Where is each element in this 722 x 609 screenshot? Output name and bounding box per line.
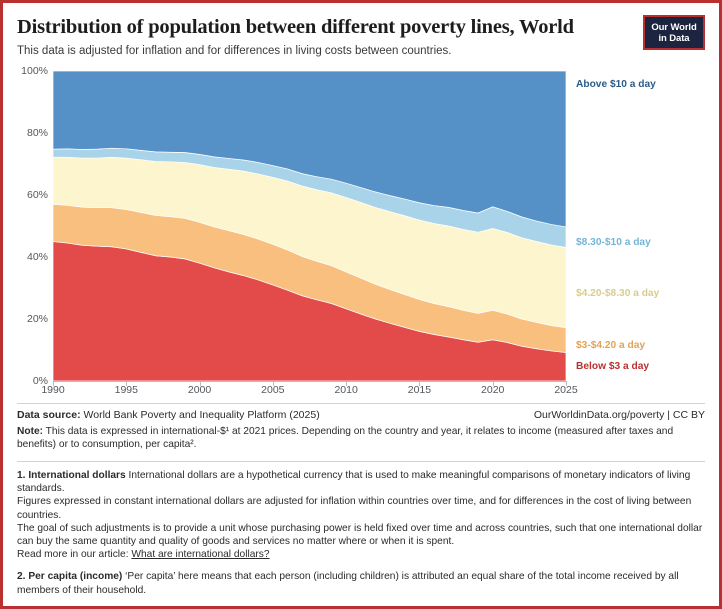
note-row: Note: This data is expressed in internat…	[17, 425, 705, 451]
our-world-in-data-logo[interactable]: Our World in Data	[643, 15, 705, 50]
y-tick-label: 100%	[21, 65, 48, 77]
x-axis-line	[53, 381, 566, 382]
data-source-value: World Bank Poverty and Inequality Platfo…	[81, 409, 320, 421]
x-tick-mark	[419, 381, 420, 386]
logo-line-2: in Data	[645, 33, 703, 44]
x-tick-mark	[566, 381, 567, 386]
chart-subtitle: This data is adjusted for inflation and …	[17, 44, 705, 58]
international-dollars-link[interactable]: What are international dollars?	[131, 549, 269, 560]
chart-header: Distribution of population between diffe…	[17, 15, 705, 67]
chart-area: 0%20%40%60%80%100% 199019952000200520102…	[17, 71, 705, 401]
series-label-2[interactable]: $4.20-$8.30 a day	[576, 288, 659, 300]
x-tick-mark	[493, 381, 494, 386]
y-tick-label: 20%	[27, 313, 48, 325]
read-more-prefix: Read more in our article:	[17, 549, 131, 560]
data-source-label: Data source:	[17, 409, 81, 421]
footnote-block: 2. Per capita (income) ‘Per capita’ here…	[17, 570, 705, 596]
footnotes-section: 1. International dollars International d…	[17, 461, 705, 597]
series-label-3[interactable]: $8.30-$10 a day	[576, 237, 651, 249]
stacked-area-plot[interactable]: 0%20%40%60%80%100% 199019952000200520102…	[53, 71, 566, 381]
footnote-number: 2.	[17, 571, 28, 582]
footnote-term: International dollars	[28, 470, 125, 481]
series-label-1[interactable]: $3-$4.20 a day	[576, 340, 645, 352]
x-tick-mark	[200, 381, 201, 386]
x-tick-mark	[126, 381, 127, 386]
note-text: This data is expressed in international-…	[17, 426, 673, 450]
footnote-paragraph: The goal of such adjustments is to provi…	[17, 522, 705, 548]
footnote-paragraph: Figures expressed in constant internatio…	[17, 495, 705, 521]
x-tick-mark	[273, 381, 274, 386]
source-row: Data source: World Bank Poverty and Ineq…	[17, 403, 705, 421]
chart-frame: Distribution of population between diffe…	[0, 0, 722, 609]
owid-url-license[interactable]: OurWorldinData.org/poverty | CC BY	[534, 409, 705, 421]
note-label: Note:	[17, 426, 43, 437]
x-tick-mark	[53, 381, 54, 386]
series-label-4[interactable]: Above $10 a day	[576, 79, 656, 91]
footnote-read-more: Read more in our article: What are inter…	[17, 548, 705, 561]
series-label-0[interactable]: Below $3 a day	[576, 361, 649, 373]
x-tick-mark	[346, 381, 347, 386]
y-tick-label: 40%	[27, 251, 48, 263]
logo-line-1: Our World	[645, 22, 703, 33]
y-tick-label: 60%	[27, 189, 48, 201]
page-title: Distribution of population between diffe…	[17, 15, 705, 39]
footnote-number: 1.	[17, 470, 28, 481]
footnote-paragraph: 2. Per capita (income) ‘Per capita’ here…	[17, 570, 705, 596]
footnote-paragraph: 1. International dollars International d…	[17, 469, 705, 495]
area-chart-svg	[53, 71, 566, 381]
y-tick-label: 80%	[27, 127, 48, 139]
footnote-block: 1. International dollars International d…	[17, 469, 705, 561]
footnote-term: Per capita (income)	[28, 571, 122, 582]
